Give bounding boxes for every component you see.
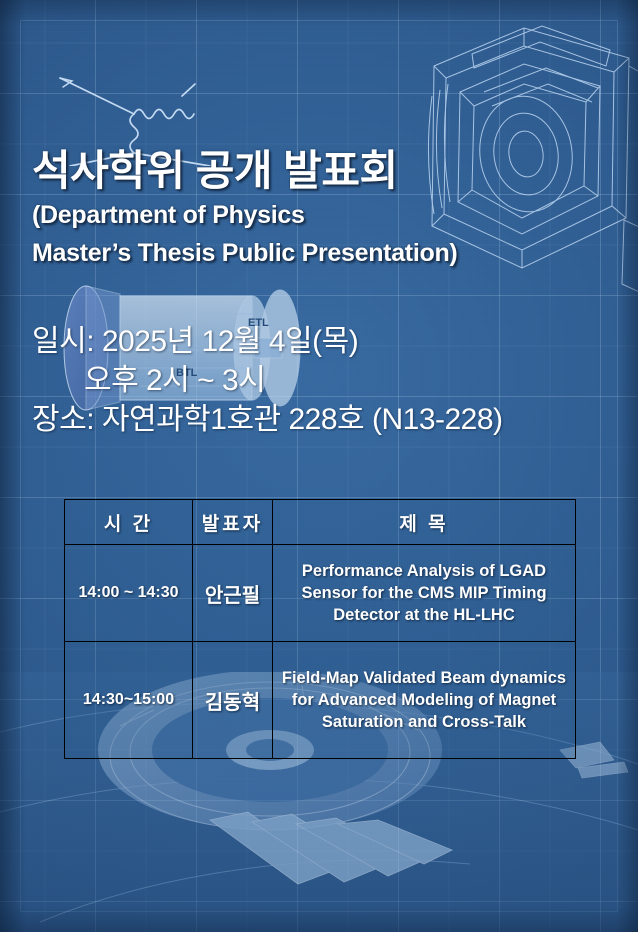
poster-canvas: ETL BTL xyxy=(0,0,638,932)
schedule-table-wrapper: 시 간 발표자 제 목 14:00 ~ 14:30 안근필 Performanc… xyxy=(64,499,576,759)
column-header-title: 제 목 xyxy=(273,500,576,545)
table-row: 14:30~15:00 김동혁 Field-Map Validated Beam… xyxy=(65,642,576,759)
event-place-line: 장소: 자연과학1호관 228호 (N13-228) xyxy=(32,400,503,439)
event-date-line: 일시: 2025년 12월 4일(목) xyxy=(32,322,503,361)
edge-vignette xyxy=(0,0,638,932)
page-title-korean: 석사학위 공개 발표회 xyxy=(32,148,457,193)
cell-talk-title: Field-Map Validated Beam dynamics for Ad… xyxy=(273,642,576,759)
event-time-line: 오후 2시 ~ 3시 xyxy=(32,361,503,400)
column-header-speaker: 발표자 xyxy=(193,500,273,545)
cell-time: 14:30~15:00 xyxy=(65,642,193,759)
title-block: 석사학위 공개 발표회 (Department of Physics Maste… xyxy=(32,148,457,269)
cell-speaker: 김동혁 xyxy=(193,642,273,759)
event-info-block: 일시: 2025년 12월 4일(목) 오후 2시 ~ 3시 장소: 자연과학1… xyxy=(32,322,503,439)
schedule-table: 시 간 발표자 제 목 14:00 ~ 14:30 안근필 Performanc… xyxy=(64,499,576,759)
table-row: 14:00 ~ 14:30 안근필 Performance Analysis o… xyxy=(65,545,576,642)
page-title-english-line1: (Department of Physics xyxy=(32,199,457,231)
cell-time: 14:00 ~ 14:30 xyxy=(65,545,193,642)
cell-talk-title: Performance Analysis of LGAD Sensor for … xyxy=(273,545,576,642)
table-header-row: 시 간 발표자 제 목 xyxy=(65,500,576,545)
page-title-english-line2: Master’s Thesis Public Presentation) xyxy=(32,237,457,269)
column-header-time: 시 간 xyxy=(65,500,193,545)
cell-speaker: 안근필 xyxy=(193,545,273,642)
